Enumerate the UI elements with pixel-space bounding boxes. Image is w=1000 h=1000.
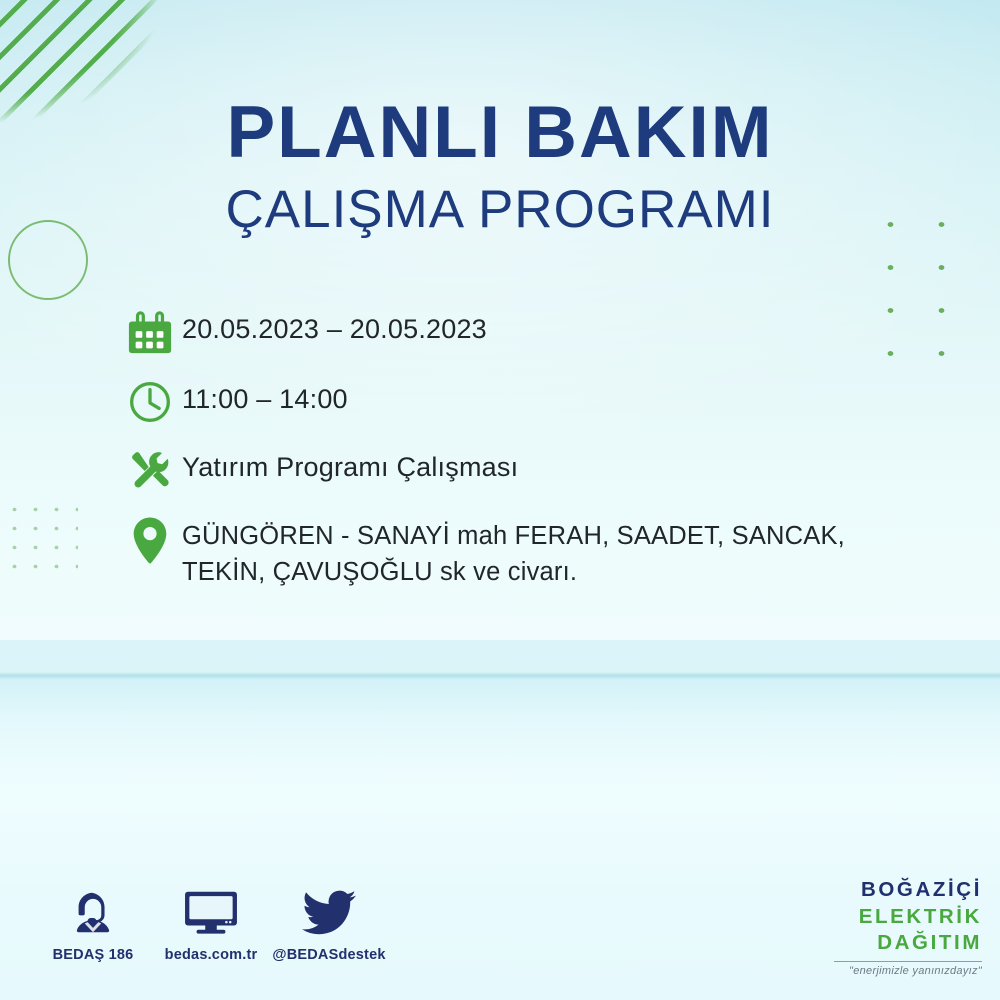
detail-row-date: 20.05.2023 – 20.05.2023	[118, 308, 908, 356]
calendar-icon	[118, 308, 182, 356]
logo-line-bogazici: BOĞAZİÇİ	[834, 880, 982, 901]
footer-item-twitter[interactable]: @BEDASdestek	[270, 884, 388, 963]
clock-icon	[118, 378, 182, 424]
tools-icon	[118, 446, 182, 492]
logo-tagline: "enerjimizle yanınızdayız"	[834, 966, 982, 977]
page-subtitle: ÇALIŞMA PROGRAMI	[0, 183, 1000, 236]
detail-date-value: 20.05.2023 – 20.05.2023	[182, 308, 487, 348]
footer-item-website[interactable]: bedas.com.tr	[152, 884, 270, 963]
map-pin-icon	[118, 514, 182, 566]
dot-grid-left-decoration	[2, 498, 78, 578]
detail-row-time: 11:00 – 14:00	[118, 378, 908, 424]
logo-line-elektrik: ELEKTRİK	[834, 907, 982, 928]
page-title: PLANLI BAKIM	[0, 96, 1000, 169]
headset-support-icon	[34, 884, 152, 940]
detail-time-value: 11:00 – 14:00	[182, 378, 348, 418]
footer-twitter-label: @BEDASdestek	[270, 947, 388, 963]
detail-row-location: GÜNGÖREN - SANAYİ mah FERAH, SAADET, SAN…	[118, 514, 908, 590]
footer-website-label: bedas.com.tr	[152, 947, 270, 963]
poster-title-block: PLANLI BAKIM ÇALIŞMA PROGRAMI	[0, 96, 1000, 236]
maintenance-details: 20.05.2023 – 20.05.2023 11:00 – 14:00	[118, 308, 908, 590]
logo-line-dagitim: DAĞITIM	[834, 933, 982, 954]
detail-row-work-type: Yatırım Programı Çalışması	[118, 446, 908, 492]
detail-location-value: GÜNGÖREN - SANAYİ mah FERAH, SAADET, SAN…	[182, 514, 882, 590]
footer-item-phone[interactable]: BEDAŞ 186	[34, 884, 152, 963]
bedas-logo: BOĞAZİÇİ ELEKTRİK DAĞITIM "enerjimizle y…	[834, 880, 982, 977]
background-horizon-band	[0, 672, 1000, 680]
footer-contacts: BEDAŞ 186 bedas.com.tr	[34, 884, 388, 963]
planned-maintenance-poster: PLANLI BAKIM ÇALIŞMA PROGRAMI	[0, 0, 1000, 1000]
detail-work-type-value: Yatırım Programı Çalışması	[182, 446, 518, 486]
twitter-bird-icon	[270, 884, 388, 940]
monitor-icon	[152, 884, 270, 940]
logo-divider	[834, 961, 982, 963]
footer-phone-label: BEDAŞ 186	[34, 947, 152, 963]
